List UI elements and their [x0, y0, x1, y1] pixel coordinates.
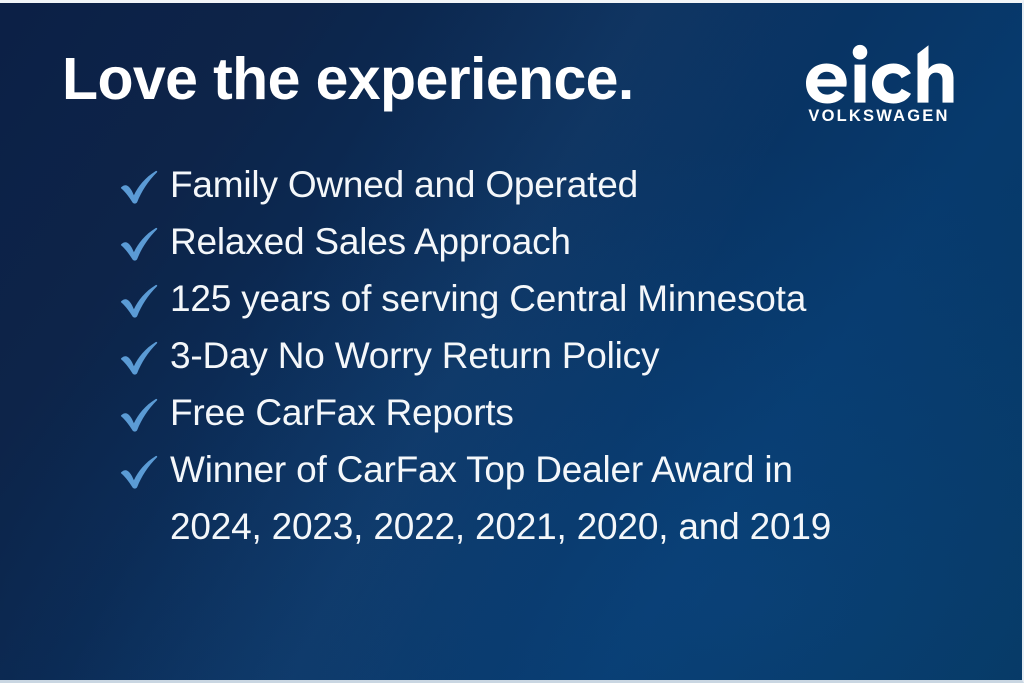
checkmark-icon	[118, 389, 170, 435]
list-item: Relaxed Sales Approach	[118, 218, 978, 275]
list-item: Family Owned and Operated	[118, 161, 978, 218]
checkmark-icon	[118, 161, 170, 207]
list-item-label: 3-Day No Worry Return Policy	[170, 332, 659, 380]
list-item-label: Relaxed Sales Approach	[170, 218, 571, 266]
list-item: Winner of CarFax Top Dealer Award in	[118, 446, 978, 503]
list-item-label: Family Owned and Operated	[170, 161, 638, 209]
page-title: Love the experience.	[62, 49, 634, 111]
list-item-continuation: 2024, 2023, 2022, 2021, 2020, and 2019	[118, 503, 978, 560]
volkswagen-label: VOLKSWAGEN	[784, 107, 974, 126]
eich-wordmark	[784, 43, 974, 105]
dealer-logo: VOLKSWAGEN	[784, 43, 974, 126]
feature-list: Family Owned and Operated Relaxed Sales …	[118, 161, 978, 560]
checkmark-icon	[118, 275, 170, 321]
list-item-label: 125 years of serving Central Minnesota	[170, 275, 806, 323]
list-item-label: Free CarFax Reports	[170, 389, 514, 437]
checkmark-icon	[118, 446, 170, 492]
list-item: Free CarFax Reports	[118, 389, 978, 446]
list-item: 3-Day No Worry Return Policy	[118, 332, 978, 389]
checkmark-icon	[118, 218, 170, 264]
list-item-label: 2024, 2023, 2022, 2021, 2020, and 2019	[170, 503, 831, 551]
list-item: 125 years of serving Central Minnesota	[118, 275, 978, 332]
checkmark-icon-placeholder	[118, 503, 170, 549]
checkmark-icon	[118, 332, 170, 378]
promo-slide: Love the experience.	[0, 0, 1024, 683]
list-item-label: Winner of CarFax Top Dealer Award in	[170, 446, 793, 494]
